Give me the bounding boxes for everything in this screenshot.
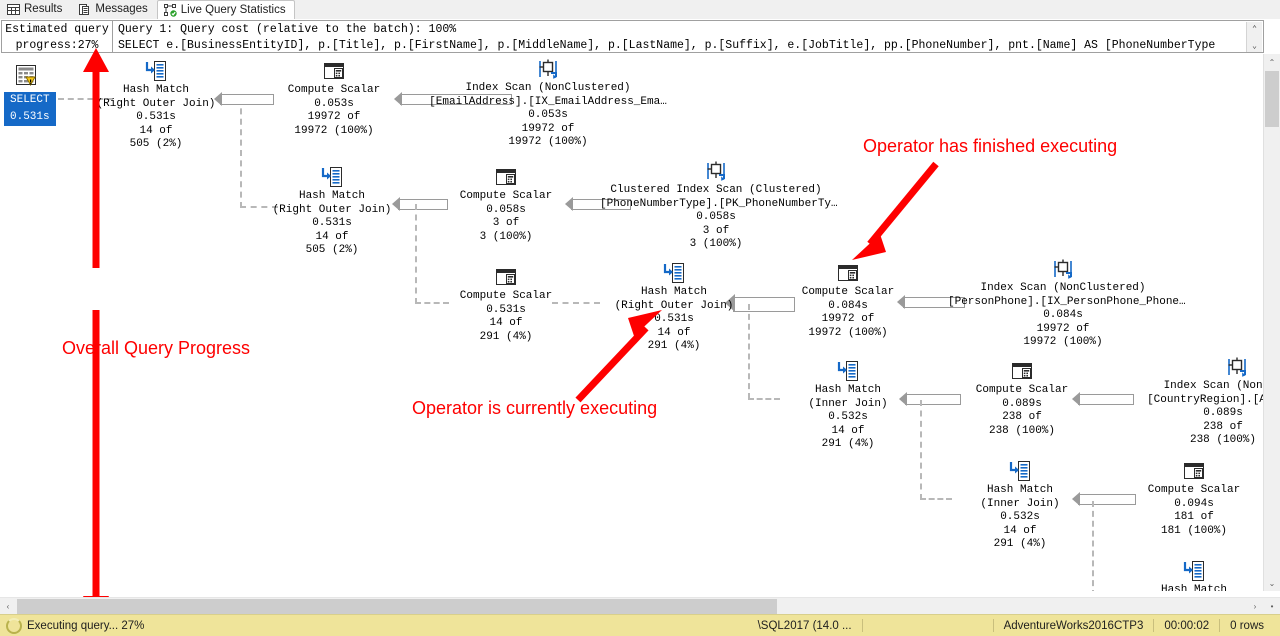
status-bar: Executing query... 27% \SQL2017 (14.0 ..… <box>0 614 1280 636</box>
hash-match-icon <box>321 166 343 188</box>
node-subtitle: [EmailAddress].[IX_EmailAddress_Ema… <box>410 96 686 110</box>
node-total: 19972 (100%) <box>948 336 1178 350</box>
execution-plan-canvas[interactable]: SELECT 0.531s Hash Match (Right Outer Jo… <box>0 54 1264 591</box>
node-title: Index Scan (NonClustered) <box>948 282 1178 296</box>
node-title: Hash Match <box>1132 584 1256 591</box>
node-total: 3 (100%) <box>444 231 568 245</box>
scroll-right-icon[interactable]: › <box>1247 598 1263 615</box>
node-time: 0.532s <box>786 411 910 425</box>
index-scan-icon <box>1052 258 1074 280</box>
scroll-down-icon[interactable]: ⌄ <box>1264 575 1280 591</box>
node-time: 0.089s <box>960 398 1084 412</box>
query-sql-line: SELECT e.[BusinessEntityID], p.[Title], … <box>118 38 1263 53</box>
horizontal-scrollbar[interactable]: ‹ › • <box>0 597 1280 615</box>
node-subtitle: (Right Outer Join) <box>262 204 402 218</box>
results-tab-strip: Results Messages Live Query Statistics <box>0 0 1280 20</box>
node-subtitle: (Inner Join) <box>958 498 1082 512</box>
node-total: 3 (100%) <box>600 238 832 252</box>
node-title: Hash Match <box>604 286 744 300</box>
node-time: 0.053s <box>272 98 396 112</box>
annotation-arrow-finished <box>840 156 950 266</box>
horizontal-scrollbar-thumb[interactable] <box>17 599 777 614</box>
vertical-scrollbar-thumb[interactable] <box>1265 71 1279 127</box>
connector-dashed <box>920 498 952 500</box>
plan-node-index-scan-1[interactable]: Index Scan (NonClustered) [EmailAddress]… <box>410 58 686 150</box>
node-title: Compute Scalar <box>444 190 568 204</box>
connector-dashed <box>748 398 780 400</box>
node-total: 291 (4%) <box>958 538 1082 552</box>
resize-grip-icon[interactable]: • <box>1264 598 1280 615</box>
node-title: Compute Scalar <box>1132 484 1256 498</box>
status-elapsed: 00:00:02 <box>1153 619 1219 632</box>
node-title: Compute Scalar <box>786 286 910 300</box>
node-time: 0.089s <box>1118 407 1264 421</box>
node-total: 181 (100%) <box>1132 525 1256 539</box>
vertical-scrollbar[interactable]: ⌃ ⌄ <box>1263 54 1280 591</box>
node-total: 19972 (100%) <box>786 327 910 341</box>
plan-node-compute-scalar-3[interactable]: Compute Scalar 0.531s 14 of 291 (4%) <box>444 266 568 344</box>
select-node-label: SELECT <box>4 92 56 109</box>
node-subtitle: [CountryRegion].[AK_Cou <box>1118 394 1264 408</box>
query-text-box[interactable]: Query 1: Query cost (relative to the bat… <box>112 20 1264 53</box>
query-header-panel: Estimated query progress:27% Query 1: Qu… <box>0 19 1280 54</box>
live-stats-icon <box>164 4 177 17</box>
node-total: 505 (2%) <box>262 244 402 258</box>
status-text: Executing query... 27% <box>27 620 144 632</box>
node-rows: 181 of <box>1132 511 1256 525</box>
node-rows: 19972 of <box>272 111 396 125</box>
connector-dashed <box>920 400 922 500</box>
hash-match-icon <box>663 262 685 284</box>
scroll-down-icon[interactable]: ⌄ <box>1247 39 1262 54</box>
hash-match-icon <box>145 60 167 82</box>
connector-pipe <box>220 94 274 105</box>
tab-messages-label: Messages <box>95 3 147 15</box>
status-server: \SQL2017 (14.0 ... <box>748 619 862 632</box>
node-rows: 238 of <box>960 411 1084 425</box>
node-time: 0.058s <box>444 204 568 218</box>
scroll-up-icon[interactable]: ⌃ <box>1247 22 1262 39</box>
node-rows: 3 of <box>444 217 568 231</box>
annotation-arrow-executing <box>560 300 670 410</box>
connector-dashed <box>415 204 417 304</box>
status-database: AdventureWorks2016CTP3 <box>993 619 1154 632</box>
node-title: Compute Scalar <box>272 84 396 98</box>
compute-scalar-icon <box>495 166 517 188</box>
node-time: 0.084s <box>948 309 1178 323</box>
node-time: 0.531s <box>262 217 402 231</box>
plan-node-compute-scalar-1[interactable]: Compute Scalar 0.053s 19972 of 19972 (10… <box>272 60 396 138</box>
index-scan-icon <box>537 58 559 80</box>
node-title: Hash Match <box>958 484 1082 498</box>
plan-node-select[interactable]: SELECT 0.531s <box>4 64 56 126</box>
hash-match-icon <box>837 360 859 382</box>
plan-node-compute-scalar-6[interactable]: Compute Scalar 0.094s 181 of 181 (100%) <box>1132 460 1256 538</box>
connector-dashed <box>240 98 242 208</box>
plan-node-hash-match-4[interactable]: Hash Match (Inner Join) 0.532s 14 of 291… <box>786 360 910 452</box>
node-total: 19972 (100%) <box>410 136 686 150</box>
status-rows: 0 rows <box>1219 619 1274 632</box>
tab-results[interactable]: Results <box>0 0 71 19</box>
plan-node-index-scan-2[interactable]: Index Scan (NonClustered) [PersonPhone].… <box>948 258 1178 350</box>
node-title: Hash Match <box>786 384 910 398</box>
loading-spinner-icon <box>6 618 22 634</box>
plan-node-hash-match-5[interactable]: Hash Match (Inner Join) 0.532s 14 of 291… <box>958 460 1082 552</box>
node-rows: 14 of <box>958 525 1082 539</box>
scroll-up-icon[interactable]: ⌃ <box>1264 54 1280 70</box>
connector-pipe <box>1078 494 1136 505</box>
node-title: Hash Match <box>262 190 402 204</box>
tab-live-query-statistics[interactable]: Live Query Statistics <box>157 0 295 20</box>
node-total: 238 (100%) <box>960 425 1084 439</box>
tab-live-query-statistics-label: Live Query Statistics <box>181 4 286 16</box>
connector-pipe <box>905 394 961 405</box>
compute-scalar-icon <box>1011 360 1033 382</box>
node-title: Clustered Index Scan (Clustered) <box>600 184 832 198</box>
annotation-operator-finished: Operator has finished executing <box>863 136 1117 157</box>
query-cost-line: Query 1: Query cost (relative to the bat… <box>118 22 1263 38</box>
node-title: Compute Scalar <box>444 290 568 304</box>
node-total: 291 (4%) <box>444 331 568 345</box>
connector-dashed <box>748 304 750 399</box>
compute-scalar-icon <box>1183 460 1205 482</box>
node-rows: 14 of <box>786 425 910 439</box>
hash-match-icon <box>1183 560 1205 582</box>
plan-node-hash-match-2[interactable]: Hash Match (Right Outer Join) 0.531s 14 … <box>262 166 402 258</box>
node-title: Compute Scalar <box>960 384 1084 398</box>
node-rows: 19972 of <box>948 323 1178 337</box>
plan-node-clustered-index-scan-1[interactable]: Clustered Index Scan (Clustered) [PhoneN… <box>600 160 832 252</box>
node-rows: 19972 of <box>410 123 686 137</box>
plan-node-compute-scalar-2[interactable]: Compute Scalar 0.058s 3 of 3 (100%) <box>444 166 568 244</box>
node-time: 0.084s <box>786 300 910 314</box>
estimated-progress-line1: Estimated query <box>2 22 112 38</box>
node-total: 291 (4%) <box>786 438 910 452</box>
connector-dashed <box>1092 501 1094 591</box>
connector-pipe <box>398 199 448 210</box>
node-rows: 14 of <box>444 317 568 331</box>
node-rows: 238 of <box>1118 421 1264 435</box>
index-scan-icon <box>1226 356 1248 378</box>
plan-node-index-scan-3[interactable]: Index Scan (NonClu [CountryRegion].[AK_C… <box>1118 356 1264 448</box>
hash-match-icon <box>1009 460 1031 482</box>
node-total: 238 (100%) <box>1118 434 1264 448</box>
select-result-icon <box>13 64 43 92</box>
node-title: Index Scan (NonClu <box>1118 380 1264 394</box>
scroll-left-icon[interactable]: ‹ <box>0 598 16 615</box>
document-icon <box>78 3 91 16</box>
status-login <box>862 619 993 632</box>
status-message-group: Executing query... 27% <box>0 618 144 634</box>
node-subtitle: [PhoneNumberType].[PK_PhoneNumberTy… <box>600 198 832 212</box>
node-subtitle: [PersonPhone].[IX_PersonPhone_Phone… <box>948 296 1178 310</box>
plan-node-hash-match-6[interactable]: Hash Match <box>1132 560 1256 591</box>
select-node-time: 0.531s <box>4 109 56 126</box>
node-time: 0.532s <box>958 511 1082 525</box>
node-time: 0.058s <box>600 211 832 225</box>
tab-messages[interactable]: Messages <box>71 0 156 19</box>
node-rows: 19972 of <box>786 313 910 327</box>
node-time: 0.531s <box>444 304 568 318</box>
annotation-arrow-progress-down <box>82 310 126 628</box>
grid-icon <box>7 3 20 16</box>
node-total: 19972 (100%) <box>272 125 396 139</box>
tab-results-label: Results <box>24 3 62 15</box>
node-time: 0.053s <box>410 109 686 123</box>
node-rows: 3 of <box>600 225 832 239</box>
clustered-index-scan-icon <box>705 160 727 182</box>
plan-node-compute-scalar-4[interactable]: Compute Scalar 0.084s 19972 of 19972 (10… <box>786 262 910 340</box>
plan-node-compute-scalar-5[interactable]: Compute Scalar 0.089s 238 of 238 (100%) <box>960 360 1084 438</box>
query-text-scroll-spinner[interactable]: ⌃ ⌄ <box>1246 22 1262 53</box>
node-time: 0.094s <box>1132 498 1256 512</box>
compute-scalar-icon <box>323 60 345 82</box>
node-subtitle: (Inner Join) <box>786 398 910 412</box>
node-title: Index Scan (NonClustered) <box>410 82 686 96</box>
compute-scalar-icon <box>495 266 517 288</box>
node-rows: 14 of <box>262 231 402 245</box>
